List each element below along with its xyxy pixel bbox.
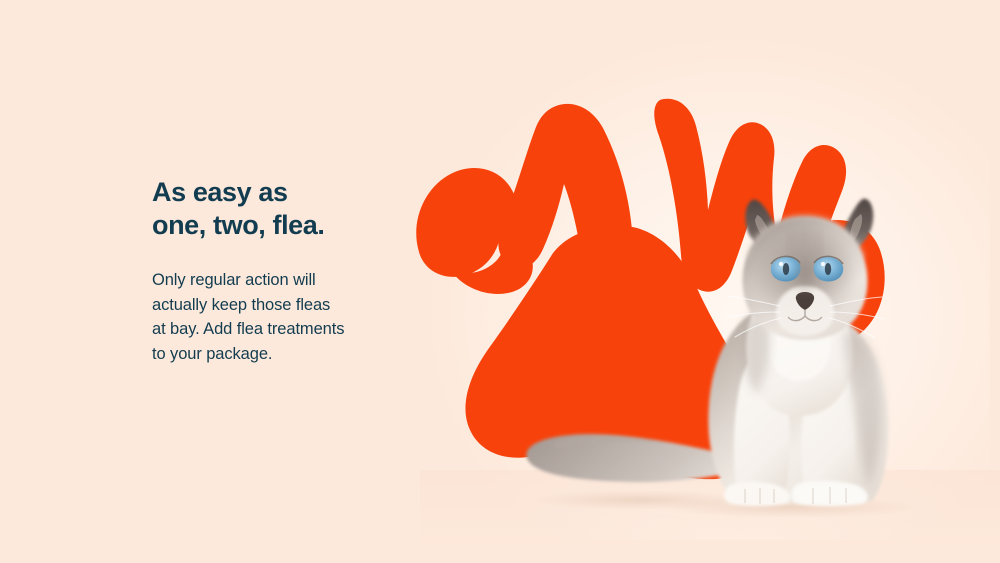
body-copy: Only regular action will actually keep t…: [152, 268, 414, 366]
copy-block: As easy as one, two, flea. Only regular …: [152, 176, 414, 366]
cat-eye-left: [771, 256, 801, 281]
cat-eye-left-pupil: [783, 263, 789, 275]
promo-banner: As easy as one, two, flea. Only regular …: [0, 0, 1000, 563]
page-title: As easy as one, two, flea.: [152, 176, 414, 242]
cat-eye-right-pupil: [825, 263, 831, 275]
artwork-area: [0, 0, 1000, 563]
cat-tail-ground-shadow: [530, 490, 750, 510]
cat-eye-right-catchlight: [821, 262, 825, 266]
cat-eye-left-catchlight: [779, 262, 783, 266]
cat-eye-right: [813, 256, 843, 281]
